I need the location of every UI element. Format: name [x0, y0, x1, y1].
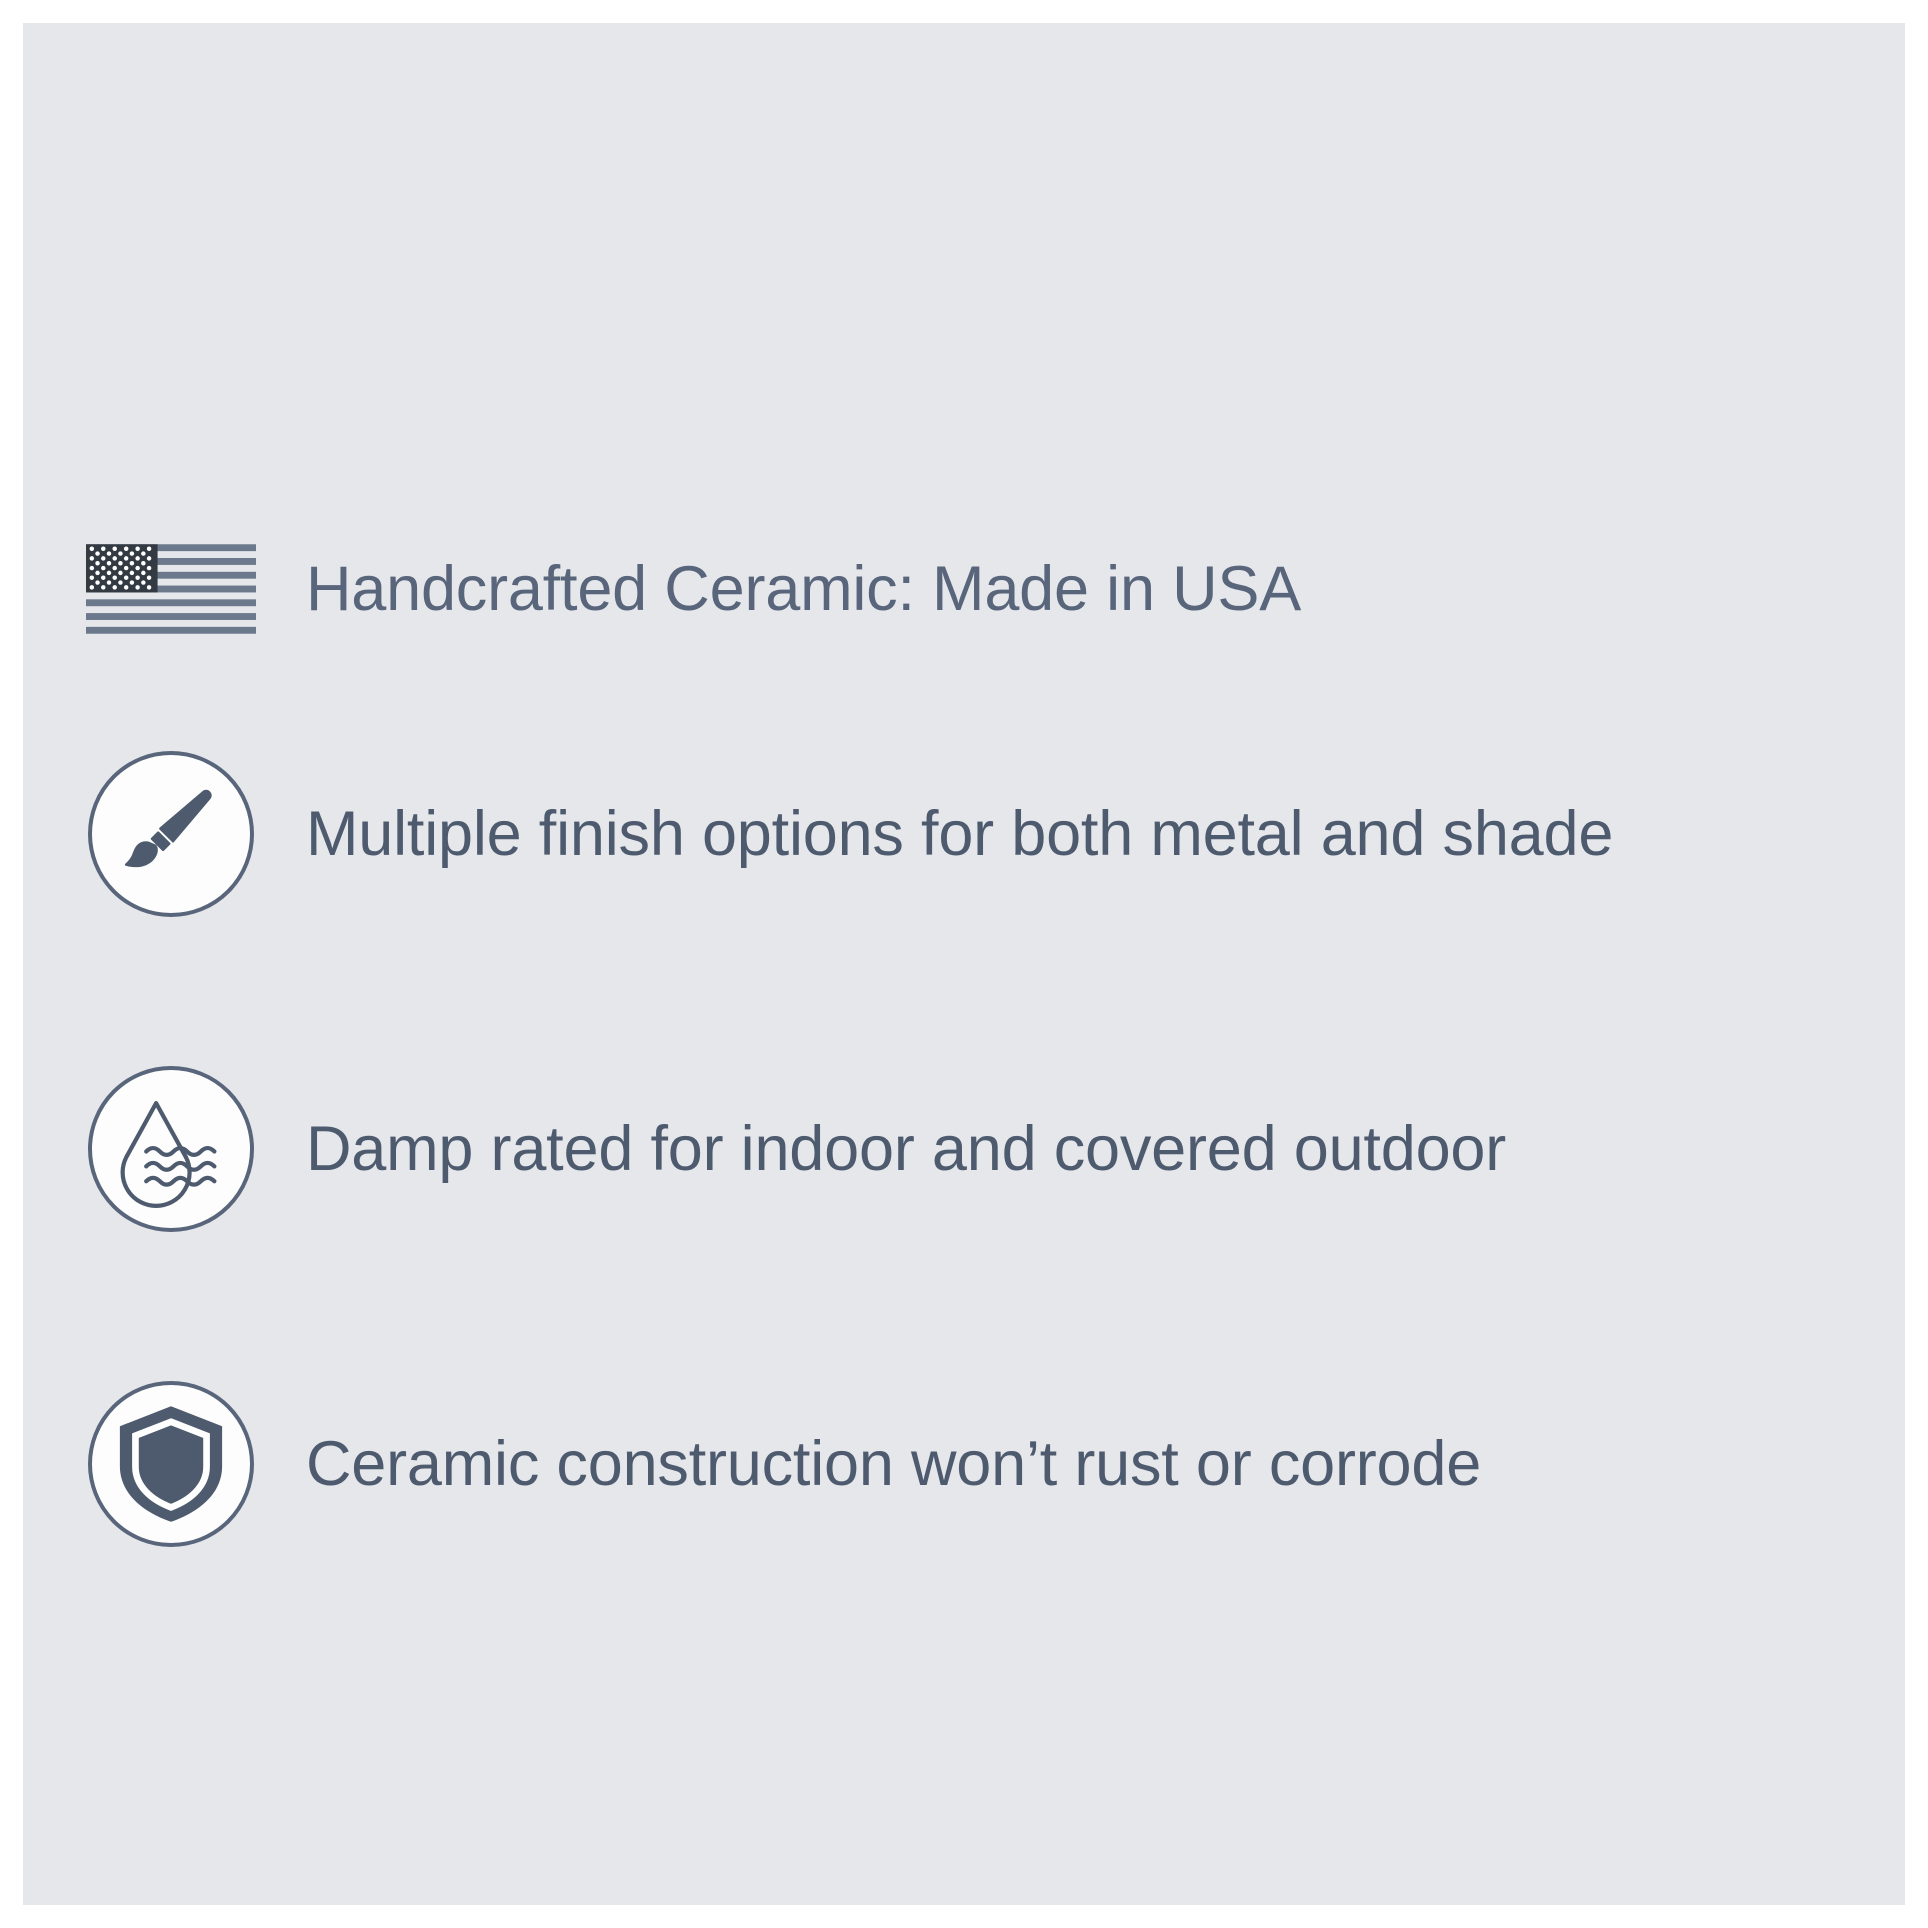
icon-circle-frame: [88, 1381, 254, 1547]
icon-circle-frame: [88, 751, 254, 917]
feature-label: Damp rated for indoor and covered outdoo…: [306, 1116, 1506, 1182]
feature-panel: Handcrafted Ceramic: Made in USA Multipl…: [23, 23, 1905, 1905]
usa-flag-icon: [86, 540, 256, 638]
icon-slot: [86, 749, 256, 919]
icon-slot: [86, 1064, 256, 1234]
feature-label: Handcrafted Ceramic: Made in USA: [306, 556, 1301, 622]
feature-label: Multiple finish options for both metal a…: [306, 801, 1613, 867]
paintbrush-icon: [111, 774, 231, 894]
water-drop-waves-icon: [109, 1087, 233, 1211]
icon-circle-frame: [88, 1066, 254, 1232]
icon-slot: [86, 504, 256, 674]
feature-list: Handcrafted Ceramic: Made in USA Multipl…: [23, 23, 1905, 1905]
feature-label: Ceramic construction won’t rust or corro…: [306, 1431, 1481, 1497]
feature-row: Damp rated for indoor and covered outdoo…: [86, 1064, 1846, 1234]
feature-row: Multiple finish options for both metal a…: [86, 749, 1846, 919]
icon-slot: [86, 1379, 256, 1549]
feature-row: Handcrafted Ceramic: Made in USA: [86, 504, 1846, 674]
feature-row: Ceramic construction won’t rust or corro…: [86, 1379, 1846, 1549]
shield-icon: [115, 1404, 227, 1524]
